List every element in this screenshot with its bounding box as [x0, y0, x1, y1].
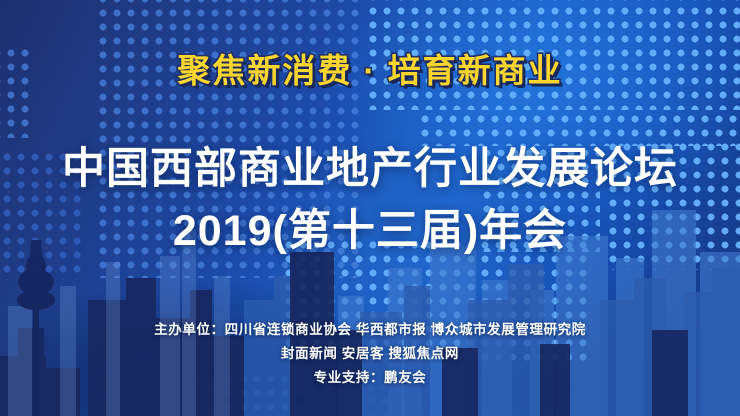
credit-line-organizers: 主办单位：四川省连锁商业协会 华西都市报 博众城市发展管理研究院	[0, 318, 740, 342]
credit-line-support: 专业支持：鹏友会	[0, 366, 740, 390]
conference-poster: 聚焦新消费 · 培育新商业 中国西部商业地产行业发展论坛 2019(第十三届)年…	[0, 0, 740, 416]
credit-line-media: 封面新闻 安居客 搜狐焦点网	[0, 342, 740, 366]
poster-kicker-tagline: 聚焦新消费 · 培育新商业	[0, 44, 740, 92]
poster-text-layer: 聚焦新消费 · 培育新商业 中国西部商业地产行业发展论坛 2019(第十三届)年…	[0, 0, 740, 416]
page-title-line-1: 中国西部商业地产行业发展论坛	[0, 134, 740, 196]
organizer-credits: 主办单位：四川省连锁商业协会 华西都市报 博众城市发展管理研究院 封面新闻 安居…	[0, 318, 740, 390]
page-title-line-2: 2019(第十三届)年会	[0, 196, 740, 258]
